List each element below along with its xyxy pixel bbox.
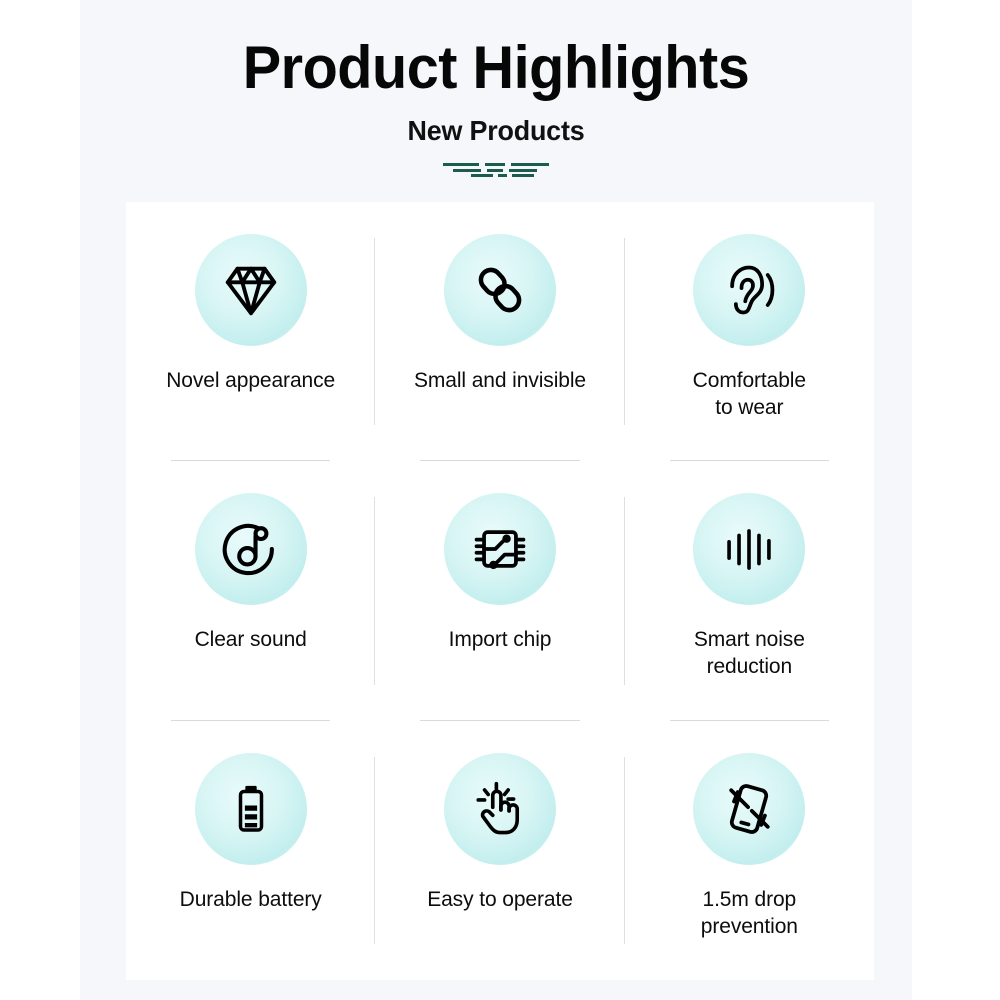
feature-label: Easy to operate (427, 887, 573, 914)
feature-label: Smart noise reduction (694, 627, 805, 681)
feature-label: Comfortable to wear (693, 368, 806, 422)
ear-icon (693, 234, 805, 346)
feature-label: Durable battery (180, 887, 322, 914)
feature-cell-clear-sound[interactable]: Clear sound (126, 461, 375, 720)
feature-label: 1.5m drop prevention (701, 887, 798, 941)
feature-cell-import-chip[interactable]: Import chip (375, 461, 624, 720)
drop-protection-icon (693, 753, 805, 865)
hand-tap-icon (444, 753, 556, 865)
page-subtitle: New Products (97, 99, 896, 147)
feature-cell-comfortable-to-wear[interactable]: Comfortable to wear (625, 202, 874, 461)
feature-label: Small and invisible (414, 368, 586, 395)
ornament-divider (441, 161, 551, 179)
feature-cell-small-and-invisible[interactable]: Small and invisible (375, 202, 624, 461)
diamond-icon (195, 234, 307, 346)
product-highlights-page: Product Highlights New Products Novel (0, 0, 1000, 1000)
microchip-icon (444, 493, 556, 605)
features-card: Novel appearance Small and invisible (126, 202, 874, 980)
feature-label: Novel appearance (166, 368, 335, 395)
feature-label: Clear sound (195, 627, 307, 654)
features-grid: Novel appearance Small and invisible (126, 202, 874, 980)
feature-cell-easy-to-operate[interactable]: Easy to operate (375, 721, 624, 980)
feature-cell-durable-battery[interactable]: Durable battery (126, 721, 375, 980)
page-title: Product Highlights (97, 0, 896, 99)
feature-cell-novel-appearance[interactable]: Novel appearance (126, 202, 375, 461)
sound-wave-icon (693, 493, 805, 605)
header: Product Highlights New Products (80, 0, 912, 179)
battery-icon (195, 753, 307, 865)
feature-cell-smart-noise-reduction[interactable]: Smart noise reduction (625, 461, 874, 720)
feature-cell-drop-prevention[interactable]: 1.5m drop prevention (625, 721, 874, 980)
chain-link-icon (444, 234, 556, 346)
feature-label: Import chip (449, 627, 552, 654)
music-note-icon (195, 493, 307, 605)
